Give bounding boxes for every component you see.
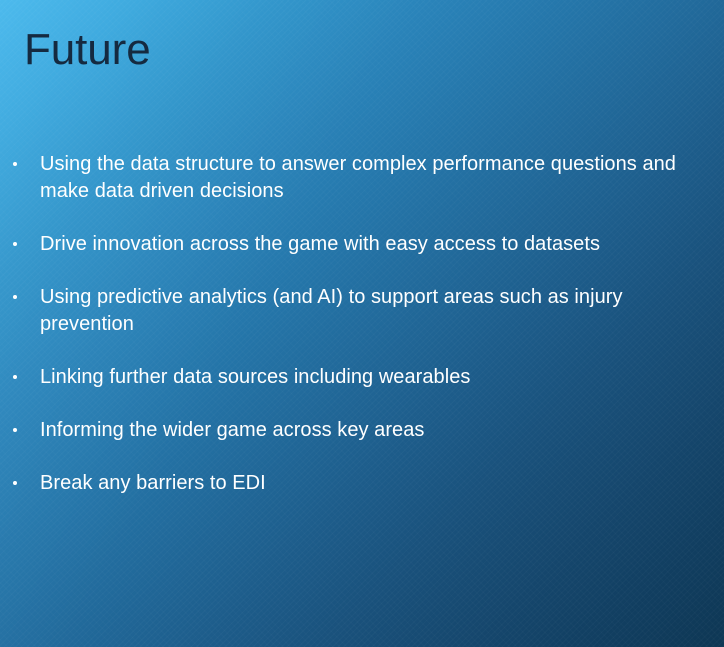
list-item-text: Using the data structure to answer compl… <box>40 151 690 205</box>
list-item: Break any barriers to EDI <box>0 470 700 497</box>
bullet-point-icon <box>13 242 17 246</box>
list-item: Informing the wider game across key area… <box>0 417 700 444</box>
list-item: Using the data structure to answer compl… <box>0 151 700 205</box>
list-item: Using predictive analytics (and AI) to s… <box>0 284 700 338</box>
list-item-text: Break any barriers to EDI <box>40 470 690 497</box>
presentation-slide: Future Using the data structure to answe… <box>0 0 724 647</box>
bullet-point-icon <box>13 375 17 379</box>
bullet-point-icon <box>13 481 17 485</box>
list-item-text: Drive innovation across the game with ea… <box>40 231 690 258</box>
bullet-point-icon <box>13 428 17 432</box>
list-item: Linking further data sources including w… <box>0 364 700 391</box>
list-item-text: Using predictive analytics (and AI) to s… <box>40 284 690 338</box>
page-title: Future <box>24 27 151 73</box>
bullet-list: Using the data structure to answer compl… <box>0 151 700 497</box>
list-item: Drive innovation across the game with ea… <box>0 231 700 258</box>
list-item-text: Linking further data sources including w… <box>40 364 690 391</box>
bullet-point-icon <box>13 162 17 166</box>
bullet-point-icon <box>13 295 17 299</box>
list-item-text: Informing the wider game across key area… <box>40 417 690 444</box>
